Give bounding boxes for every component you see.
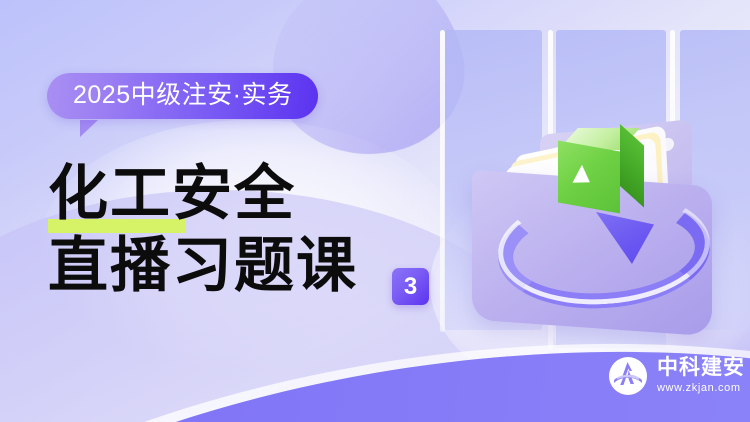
course-category-pill: 2025中级注安·实务: [47, 73, 318, 119]
brand-text-group: 中科建安 www.zkjan.com: [657, 357, 745, 396]
brand-logo: 中科建安 www.zkjan.com: [608, 356, 745, 396]
headline-line-1: 化工安全: [48, 158, 358, 230]
headline-line-2: 直播习题课: [48, 230, 358, 302]
folder-illustration: [400, 0, 750, 350]
course-cover-poster: 2025中级注安·实务 化工安全 直播习题课 3 中科建安 www.zkjan.…: [0, 0, 750, 422]
circular-mountain-logo-icon: [608, 356, 648, 396]
pill-tail-icon: [80, 120, 98, 137]
page-title: 化工安全 直播习题课: [48, 158, 358, 302]
brand-url: www.zkjan.com: [657, 381, 745, 395]
brand-name: 中科建安: [657, 357, 745, 380]
episode-number-badge: 3: [392, 268, 429, 305]
